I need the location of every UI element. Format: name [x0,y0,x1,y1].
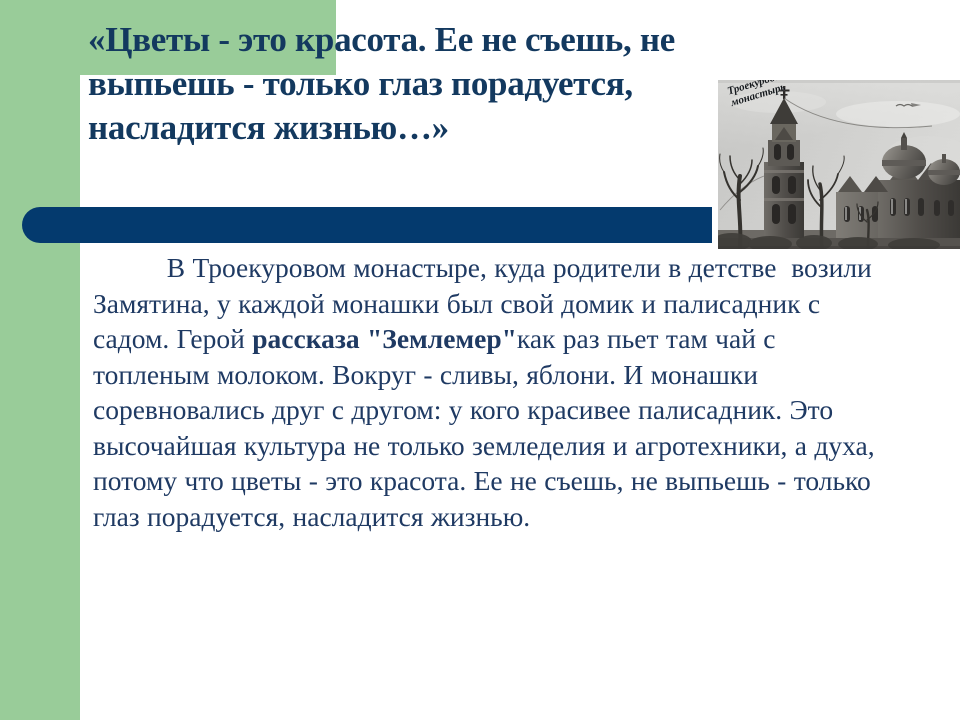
slide-body-text: В Троекуровом монастыре, куда родители в… [93,250,893,534]
navy-divider-bar [22,207,712,243]
body-text-bold-story-title: рассказа "Землемер" [252,323,517,354]
slide-title: «Цветы - это красота. Ее не съешь, не вы… [88,18,788,150]
body-text-segment-2: как раз пьет там чай с топленым молоком.… [93,323,882,532]
slide-canvas: «Цветы - это красота. Ее не съешь, не вы… [0,0,960,720]
green-left-panel [0,0,80,720]
troekurovsky-monastery-photo: Троекуровскiй монастырь [718,80,960,249]
photo-artwork [718,80,960,249]
